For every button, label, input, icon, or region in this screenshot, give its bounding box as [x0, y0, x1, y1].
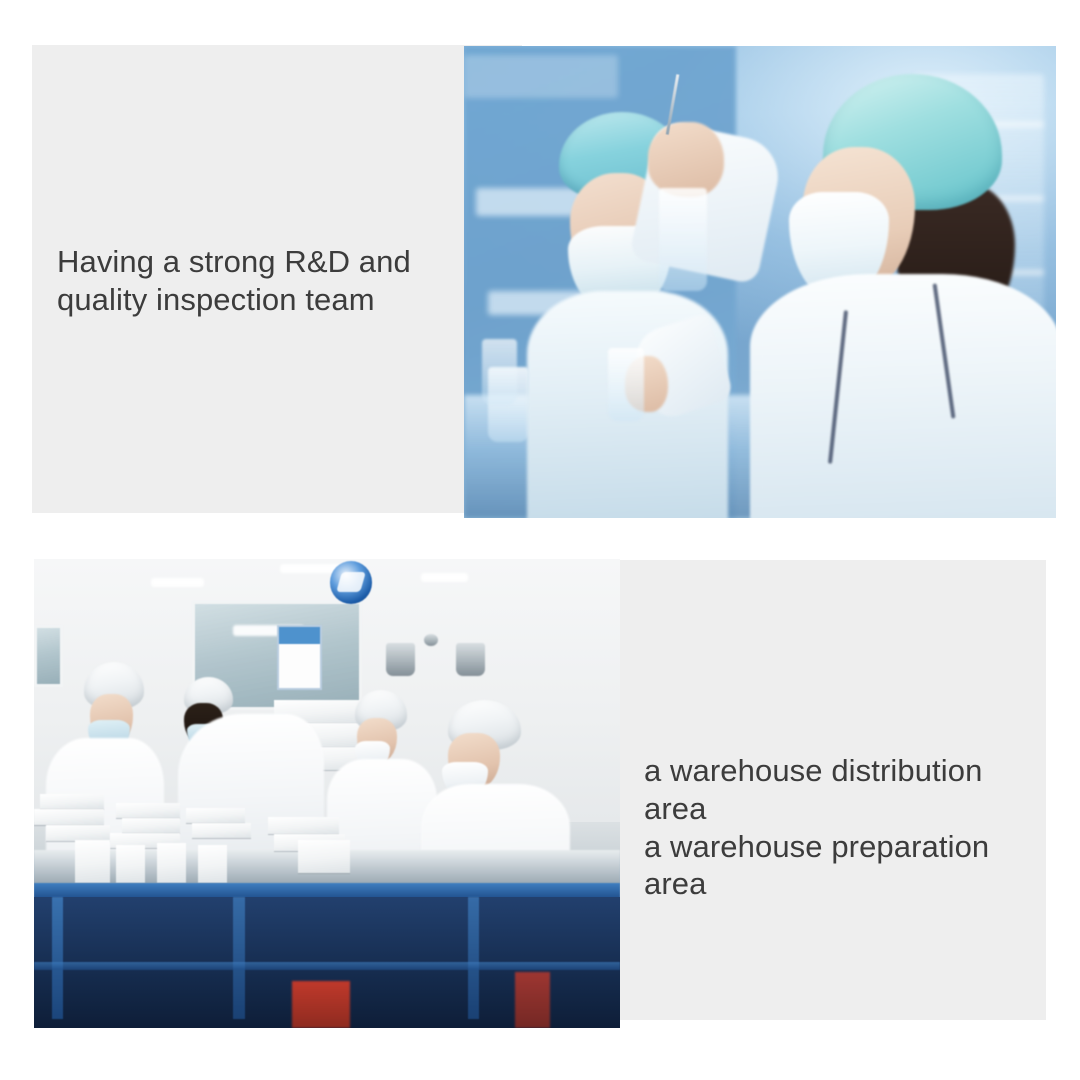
glass-vial-lower — [608, 348, 643, 421]
red-floor-marker — [515, 972, 550, 1028]
table-leg — [233, 897, 245, 1019]
bottom-caption-text: a warehouse distribution area a warehous… — [644, 752, 1044, 903]
table-leg — [52, 897, 64, 1019]
flask — [482, 339, 518, 405]
table-rail — [34, 962, 620, 970]
table-leg — [468, 897, 480, 1019]
steel-lid — [424, 634, 438, 646]
steel-pot — [456, 643, 485, 676]
lab-photo — [464, 46, 1056, 518]
red-floor-marker — [292, 981, 351, 1028]
ceiling-light — [421, 573, 468, 582]
lab-worker-profile — [736, 74, 1056, 518]
glass-vial — [659, 188, 706, 292]
lab-coat — [750, 274, 1056, 518]
collage-page: Having a strong R&D and quality inspecti… — [0, 0, 1080, 1080]
lab-shelf-top — [464, 55, 618, 97]
top-caption-text: Having a strong R&D and quality inspecti… — [57, 243, 477, 319]
blue-circular-sign-icon — [330, 561, 372, 603]
steel-pot — [386, 643, 415, 676]
ceiling-light — [151, 578, 204, 587]
warehouse-photo — [34, 559, 620, 1028]
gloved-hand — [648, 122, 725, 198]
